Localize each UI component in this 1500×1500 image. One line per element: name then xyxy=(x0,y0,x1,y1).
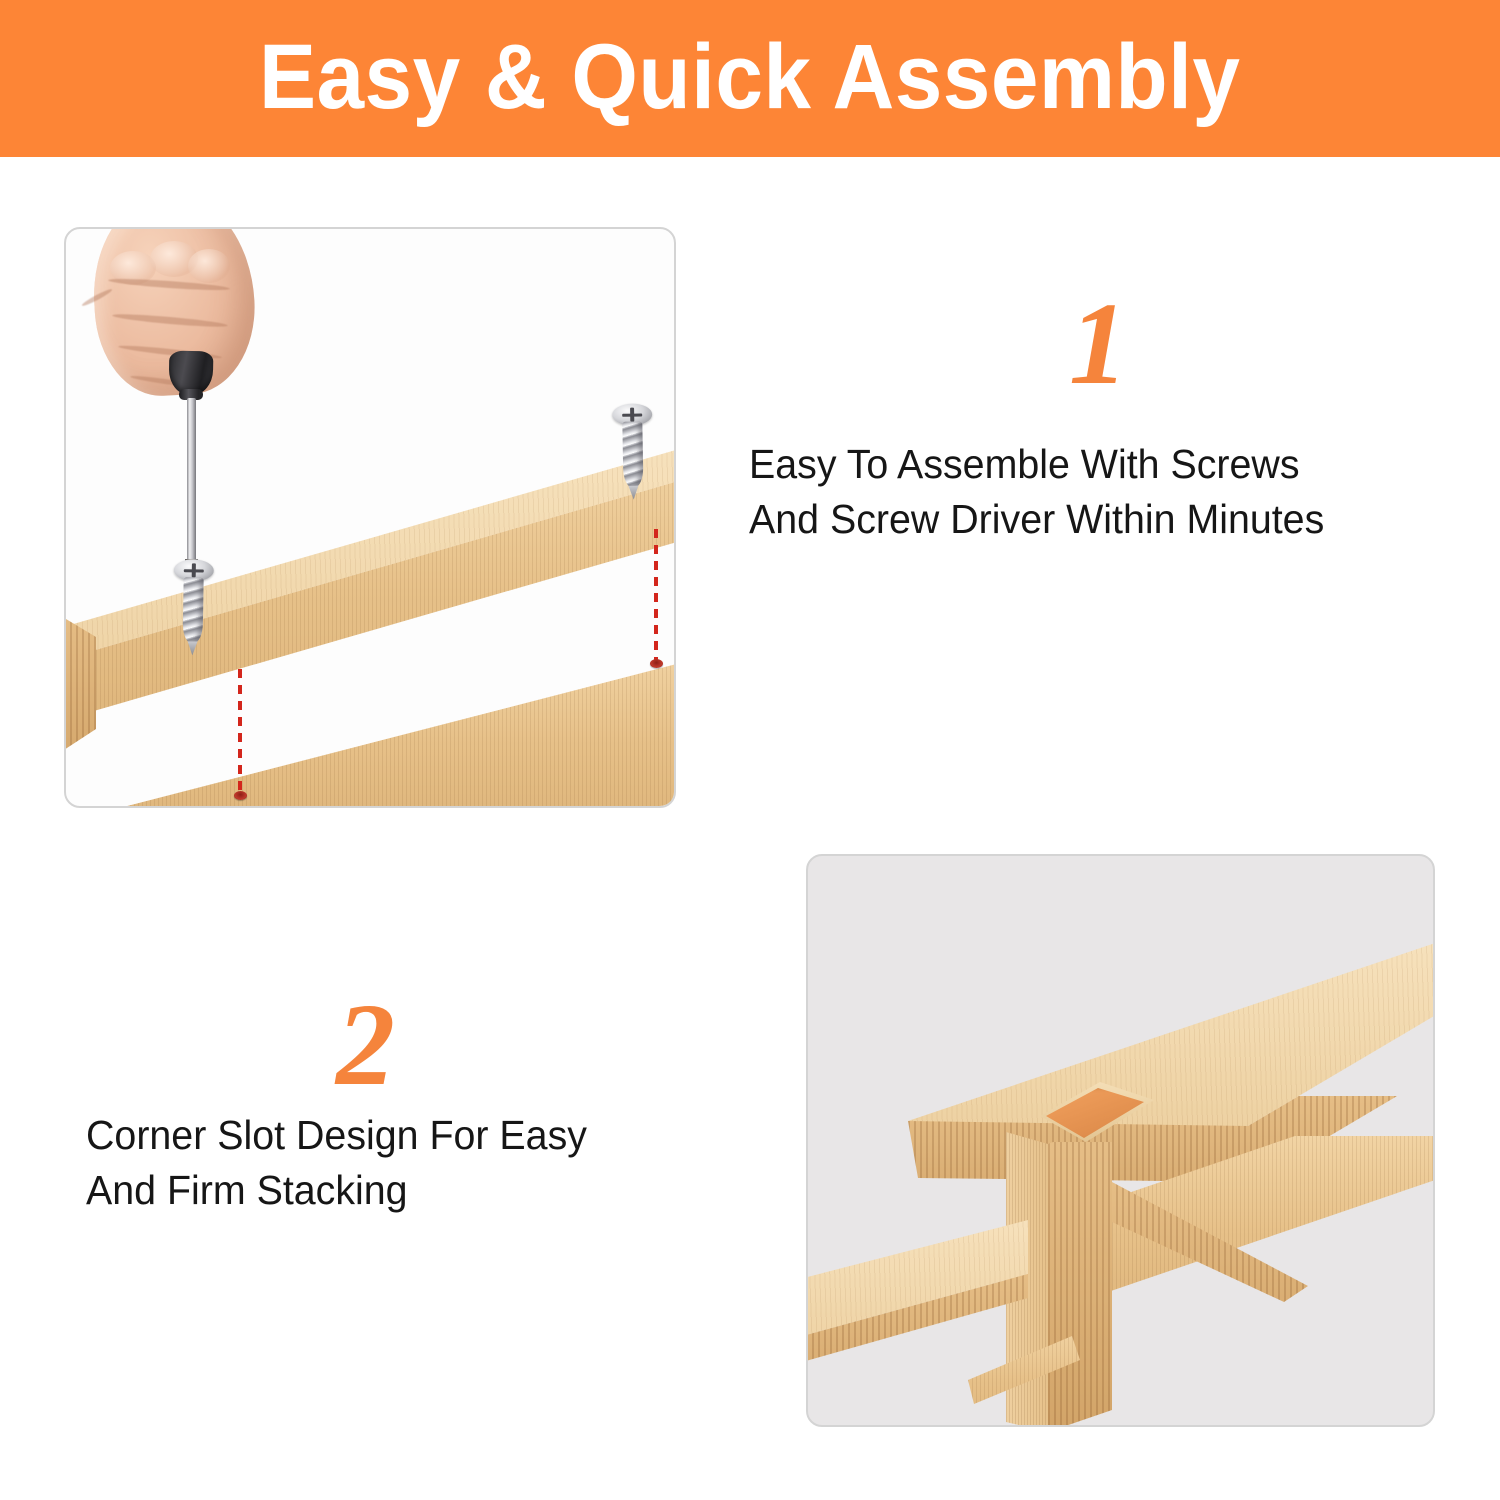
step-1-number: 1 xyxy=(1069,285,1128,403)
header-banner: Easy & Quick Assembly xyxy=(0,0,1500,157)
alignment-marker-icon xyxy=(654,529,658,664)
assembly-photo-panel xyxy=(64,227,676,808)
alignment-marker-icon xyxy=(238,669,242,797)
shelf-leg-side xyxy=(1048,1142,1158,1427)
corner-slot-icon xyxy=(1026,1082,1154,1142)
step-1-description: Easy To Assemble With Screws And Screw D… xyxy=(749,437,1440,546)
corner-slot-photo-panel xyxy=(806,854,1435,1427)
step-2-number: 2 xyxy=(336,986,395,1104)
step-2-description: Corner Slot Design For Easy And Firm Sta… xyxy=(86,1108,720,1217)
assembly-photo-scene xyxy=(66,229,674,806)
alignment-hole-icon xyxy=(650,659,663,668)
page-title: Easy & Quick Assembly xyxy=(259,31,1241,123)
corner-slot-photo-scene xyxy=(808,856,1433,1425)
alignment-hole-icon xyxy=(234,791,247,800)
